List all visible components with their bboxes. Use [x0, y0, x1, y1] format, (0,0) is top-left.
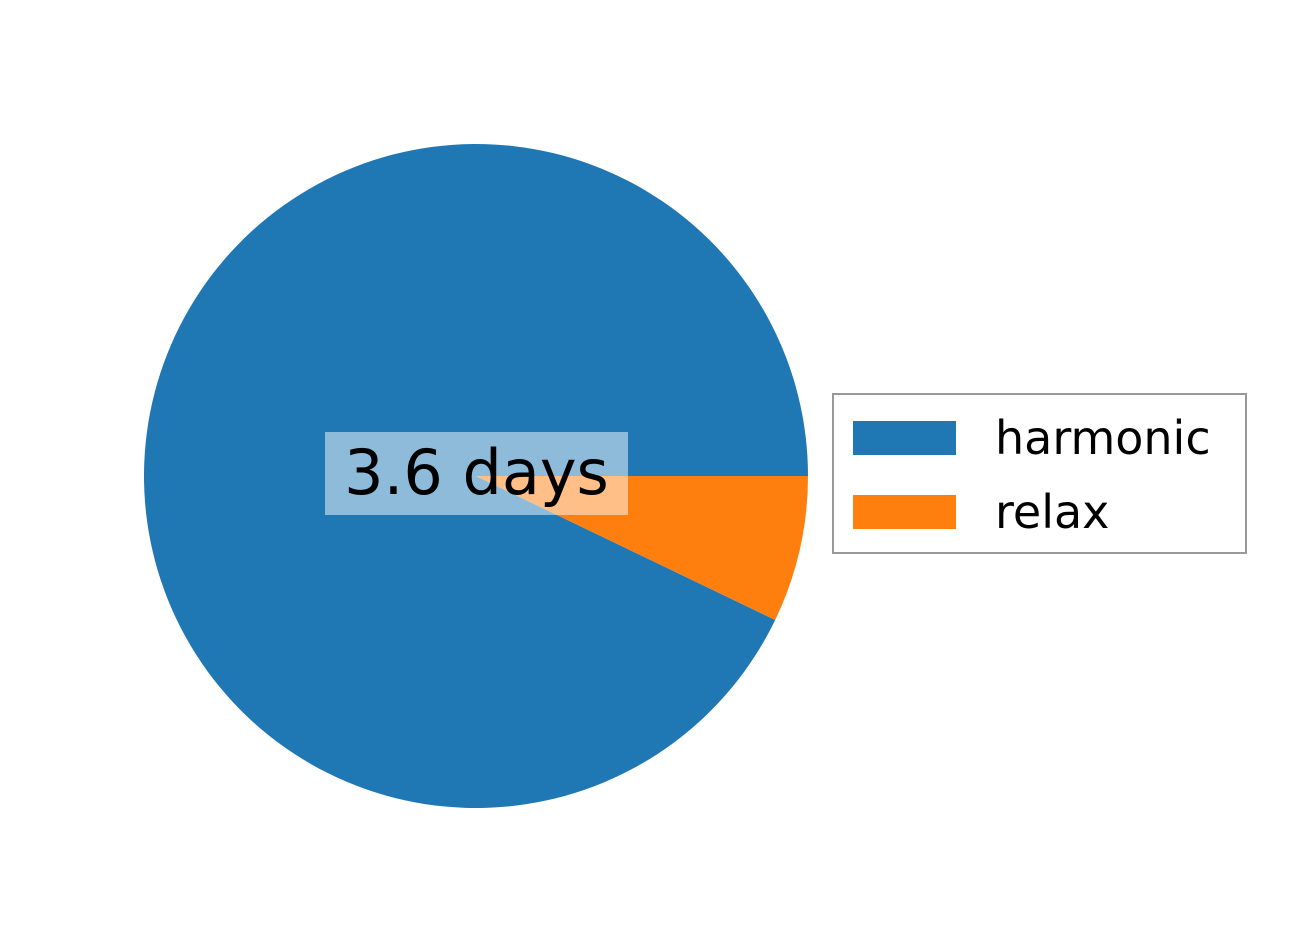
figure-canvas: 3.6 days harmonic relax [0, 0, 1307, 951]
legend-entry-relax[interactable]: relax [834, 489, 1109, 535]
legend: harmonic relax [832, 393, 1247, 554]
legend-entry-harmonic[interactable]: harmonic [834, 415, 1211, 461]
pie-center-label-text: 3.6 days [344, 442, 609, 504]
legend-patch-relax [853, 495, 956, 529]
legend-label-relax: relax [995, 489, 1109, 535]
legend-label-harmonic: harmonic [995, 415, 1211, 461]
legend-patch-harmonic [853, 421, 956, 455]
pie-center-label: 3.6 days [325, 432, 628, 515]
